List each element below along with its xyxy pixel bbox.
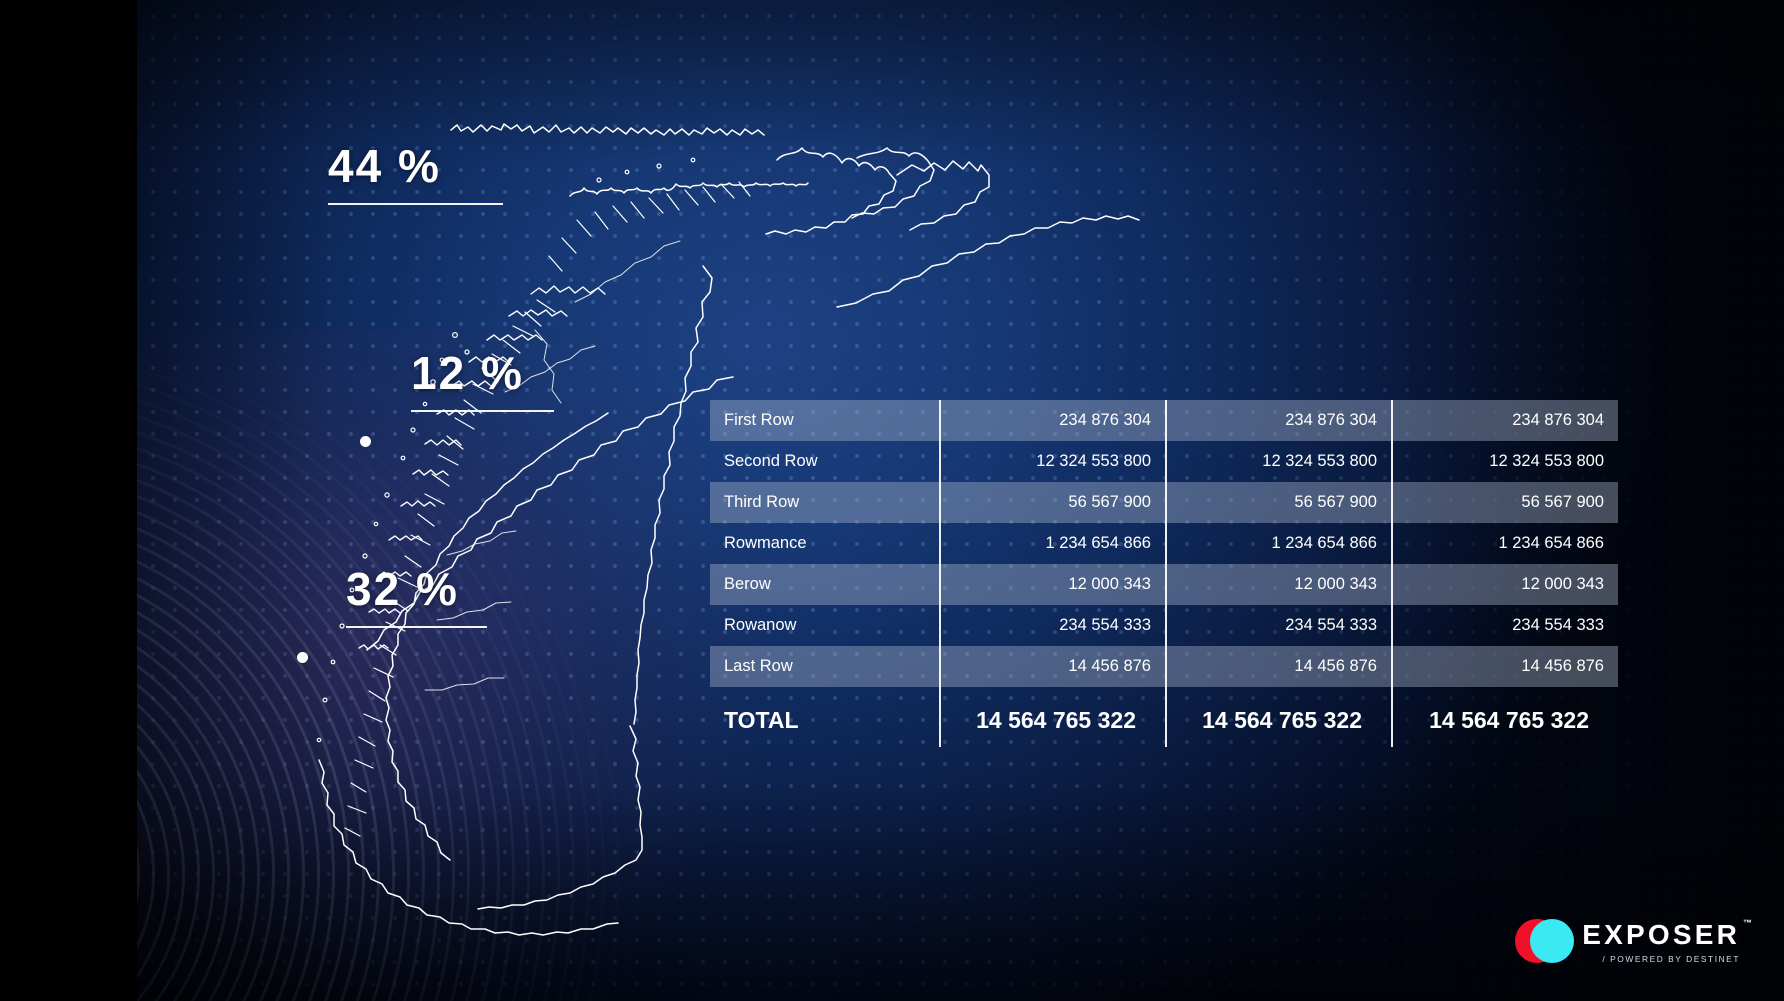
row-value-col3: 12 324 553 800 <box>1392 441 1618 482</box>
row-value-col1: 12 324 553 800 <box>940 441 1166 482</box>
total-value-col3: 14 564 765 322 <box>1392 687 1618 747</box>
map-callout-central-value: 12 % <box>411 350 554 396</box>
row-label: Last Row <box>710 646 940 687</box>
table-body: First Row 234 876 304 234 876 304 234 87… <box>710 400 1618 747</box>
total-label: TOTAL <box>710 687 940 747</box>
statistics-table: First Row 234 876 304 234 876 304 234 87… <box>710 400 1618 747</box>
exposer-wordmark: EXPOSER <box>1582 921 1740 949</box>
map-callout-south-value: 32 % <box>346 566 487 612</box>
letterbox-bar-left <box>0 0 137 1001</box>
row-label: Second Row <box>710 441 940 482</box>
row-value-col2: 12 324 553 800 <box>1166 441 1392 482</box>
map-callout-central: 12 % <box>411 350 554 412</box>
table-total-row: TOTAL 14 564 765 322 14 564 765 322 14 5… <box>710 687 1618 747</box>
logo-circle-cyan <box>1530 919 1574 963</box>
row-value-col3: 56 567 900 <box>1392 482 1618 523</box>
map-callout-south-marker-dot <box>297 652 308 663</box>
row-label: Berow <box>710 564 940 605</box>
row-value-col1: 1 234 654 866 <box>940 523 1166 564</box>
row-value-col1: 234 876 304 <box>940 400 1166 441</box>
row-value-col2: 12 000 343 <box>1166 564 1392 605</box>
row-value-col2: 1 234 654 866 <box>1166 523 1392 564</box>
exposer-logo-text: EXPOSER ™ / POWERED BY DESTINET <box>1582 918 1740 964</box>
row-value-col1: 234 554 333 <box>940 605 1166 646</box>
row-value-col3: 234 554 333 <box>1392 605 1618 646</box>
exposer-tagline: / POWERED BY DESTINET <box>1582 954 1740 964</box>
total-value-col2: 14 564 765 322 <box>1166 687 1392 747</box>
row-label: First Row <box>710 400 940 441</box>
table-row[interactable]: Rowmance 1 234 654 866 1 234 654 866 1 2… <box>710 523 1618 564</box>
map-callout-north-leader-line <box>328 203 503 205</box>
row-value-col2: 56 567 900 <box>1166 482 1392 523</box>
row-value-col1: 12 000 343 <box>940 564 1166 605</box>
row-value-col2: 14 456 876 <box>1166 646 1392 687</box>
table-row[interactable]: First Row 234 876 304 234 876 304 234 87… <box>710 400 1618 441</box>
row-value-col3: 14 456 876 <box>1392 646 1618 687</box>
row-value-col2: 234 876 304 <box>1166 400 1392 441</box>
table-row[interactable]: Rowanow 234 554 333 234 554 333 234 554 … <box>710 605 1618 646</box>
row-value-col1: 56 567 900 <box>940 482 1166 523</box>
map-callout-central-leader-line <box>411 410 554 412</box>
table-row[interactable]: Second Row 12 324 553 800 12 324 553 800… <box>710 441 1618 482</box>
trademark-symbol: ™ <box>1743 918 1752 928</box>
map-callout-south-leader-line <box>346 626 487 628</box>
map-callout-north: 44 % <box>328 143 503 205</box>
row-value-col3: 234 876 304 <box>1392 400 1618 441</box>
row-label: Rowanow <box>710 605 940 646</box>
row-value-col3: 12 000 343 <box>1392 564 1618 605</box>
row-value-col1: 14 456 876 <box>940 646 1166 687</box>
row-value-col2: 234 554 333 <box>1166 605 1392 646</box>
table-row[interactable]: Last Row 14 456 876 14 456 876 14 456 87… <box>710 646 1618 687</box>
exposer-logo[interactable]: EXPOSER ™ / POWERED BY DESTINET <box>1515 917 1740 965</box>
total-value-col1: 14 564 765 322 <box>940 687 1166 747</box>
statistics-table-container: First Row 234 876 304 234 876 304 234 87… <box>710 400 1618 747</box>
slide-root: 44 % 12 % 32 % First Row 234 876 304 234… <box>0 0 1784 1001</box>
map-callout-central-marker-dot <box>360 436 371 447</box>
row-label: Third Row <box>710 482 940 523</box>
exposer-logo-mark-icon <box>1515 917 1571 965</box>
map-callout-south: 32 % <box>346 566 487 628</box>
table-row[interactable]: Berow 12 000 343 12 000 343 12 000 343 <box>710 564 1618 605</box>
row-value-col3: 1 234 654 866 <box>1392 523 1618 564</box>
background-bloom <box>137 330 777 1001</box>
table-row[interactable]: Third Row 56 567 900 56 567 900 56 567 9… <box>710 482 1618 523</box>
row-label: Rowmance <box>710 523 940 564</box>
map-callout-north-value: 44 % <box>328 143 503 189</box>
